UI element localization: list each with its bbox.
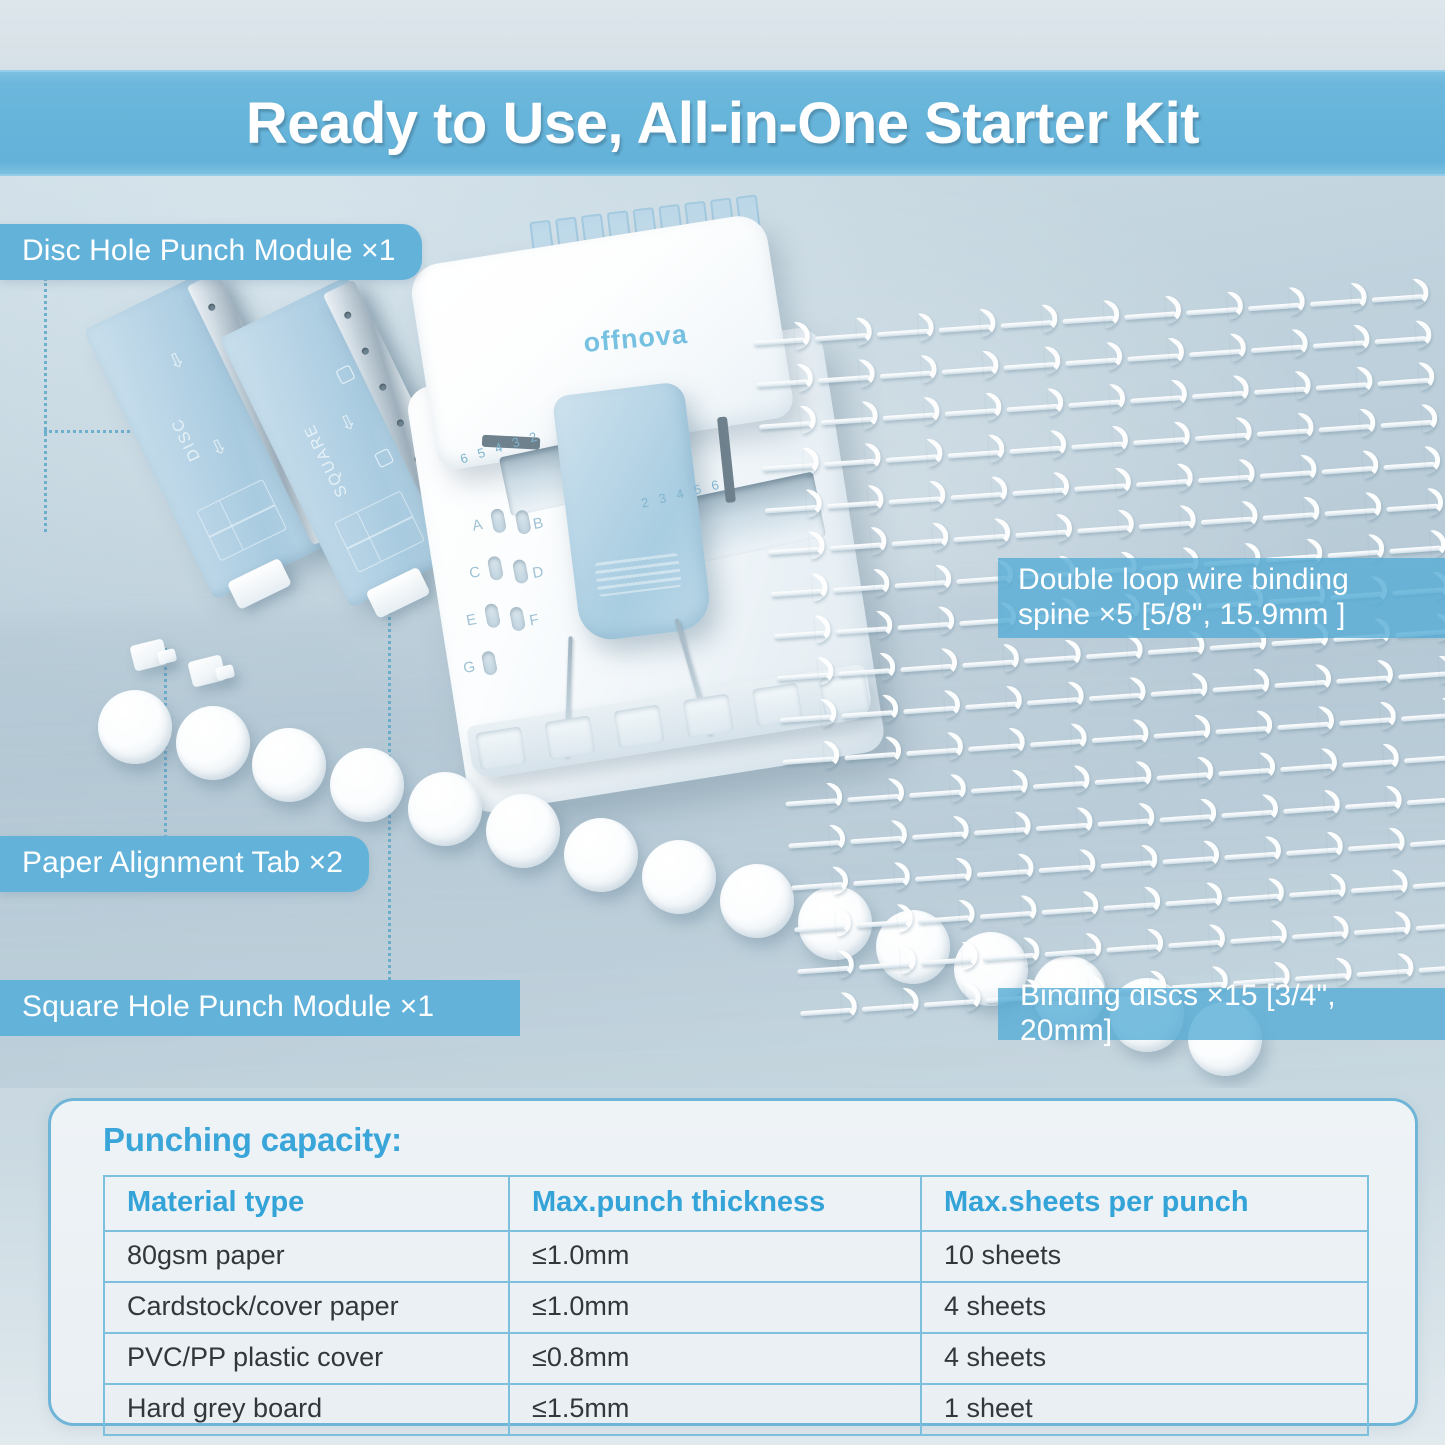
binding-disc bbox=[252, 728, 326, 802]
cell-max-thickness: ≤1.5mm bbox=[509, 1384, 921, 1435]
callout-binding-discs-label: Binding discs ×15 [3/4", 20mm] bbox=[1020, 978, 1419, 1049]
callout-paper-alignment-tab-label: Paper Alignment Tab ×2 bbox=[22, 845, 343, 880]
title-banner: Ready to Use, All-in-One Starter Kit bbox=[0, 70, 1445, 176]
wire-binding-spines bbox=[752, 281, 1445, 1087]
punching-capacity-table: Material type Max.punch thickness Max.sh… bbox=[103, 1175, 1369, 1436]
column-header-material-type: Material type bbox=[104, 1176, 509, 1231]
callout-wire-binding-spine-label: Double loop wire binding spine ×5 [5/8",… bbox=[1018, 562, 1349, 633]
table-row: 80gsm paper ≤1.0mm 10 sheets bbox=[104, 1231, 1368, 1282]
punching-capacity-card: Punching capacity: Material type Max.pun… bbox=[48, 1098, 1418, 1426]
column-header-max-sheets: Max.sheets per punch bbox=[921, 1176, 1368, 1231]
cell-material-type: 80gsm paper bbox=[104, 1231, 509, 1282]
callout-paper-alignment-tab: Paper Alignment Tab ×2 bbox=[0, 836, 369, 892]
table-row: Hard grey board ≤1.5mm 1 sheet bbox=[104, 1384, 1368, 1435]
cell-material-type: Cardstock/cover paper bbox=[104, 1282, 509, 1333]
callout-wire-binding-spine: Double loop wire binding spine ×5 [5/8",… bbox=[998, 558, 1445, 638]
callout-disc-punch-module-label: Disc Hole Punch Module ×1 bbox=[22, 233, 396, 268]
binding-disc bbox=[408, 772, 482, 846]
binding-disc bbox=[642, 840, 716, 914]
binding-disc bbox=[564, 818, 638, 892]
callout-binding-discs: Binding discs ×15 [3/4", 20mm] bbox=[998, 988, 1445, 1040]
cell-material-type: PVC/PP plastic cover bbox=[104, 1333, 509, 1384]
callout-square-punch-module: Square Hole Punch Module ×1 bbox=[0, 980, 520, 1036]
binding-disc bbox=[98, 690, 172, 764]
table-row: PVC/PP plastic cover ≤0.8mm 4 sheets bbox=[104, 1333, 1368, 1384]
cell-max-thickness: ≤1.0mm bbox=[509, 1282, 921, 1333]
page-title: Ready to Use, All-in-One Starter Kit bbox=[246, 90, 1199, 157]
cell-max-sheets: 4 sheets bbox=[921, 1282, 1368, 1333]
punching-capacity-title: Punching capacity: bbox=[103, 1121, 402, 1159]
callout-square-punch-module-label: Square Hole Punch Module ×1 bbox=[22, 989, 434, 1024]
product-photo: DISC ⇩ ⇩ SQUARE ⇩ ▢ ▢ bbox=[0, 176, 1445, 1088]
binding-disc bbox=[486, 794, 560, 868]
leader-line-disc-vertical bbox=[44, 278, 47, 532]
infographic-page: Ready to Use, All-in-One Starter Kit DIS… bbox=[0, 0, 1445, 1445]
top-strip bbox=[0, 0, 1445, 70]
cell-max-sheets: 4 sheets bbox=[921, 1333, 1368, 1384]
cell-max-thickness: ≤1.0mm bbox=[509, 1231, 921, 1282]
cell-max-thickness: ≤0.8mm bbox=[509, 1333, 921, 1384]
column-header-max-thickness: Max.punch thickness bbox=[509, 1176, 921, 1231]
callout-disc-punch-module: Disc Hole Punch Module ×1 bbox=[0, 224, 422, 280]
binding-disc bbox=[330, 748, 404, 822]
binding-disc bbox=[176, 706, 250, 780]
cell-material-type: Hard grey board bbox=[104, 1384, 509, 1435]
cell-max-sheets: 10 sheets bbox=[921, 1231, 1368, 1282]
table-header-row: Material type Max.punch thickness Max.sh… bbox=[104, 1176, 1368, 1231]
cell-max-sheets: 1 sheet bbox=[921, 1384, 1368, 1435]
binding-disc bbox=[720, 864, 794, 938]
table-row: Cardstock/cover paper ≤1.0mm 4 sheets bbox=[104, 1282, 1368, 1333]
